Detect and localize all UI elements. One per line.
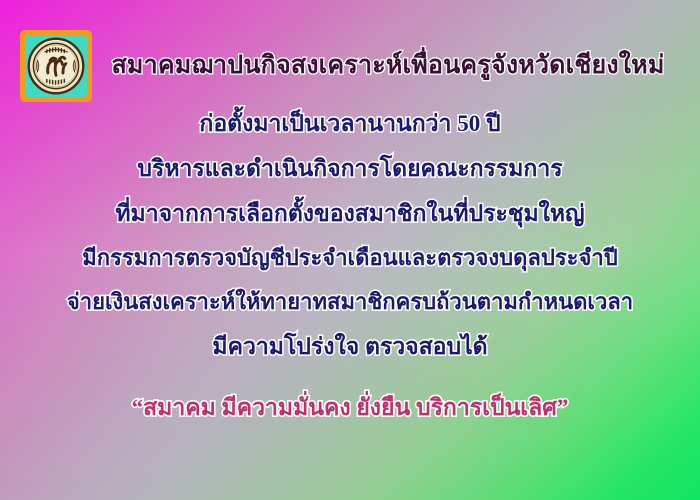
page-title: สมาคมฌาปนกิจสงเคราะห์เพื่อนครูจังหวัดเชี…: [92, 52, 700, 80]
association-seal-logo: [20, 30, 92, 102]
body-line-4: มีกรรมการตรวจบัญชีประจำเดือนและตรวจงบดุล…: [0, 247, 700, 269]
body-line-1: ก่อตั้งมาเป็นเวลานานกว่า 50 ปี: [0, 112, 700, 135]
body-text-block: ก่อตั้งมาเป็นเวลานานกว่า 50 ปี บริหารและ…: [0, 112, 700, 380]
poster-canvas: สมาคมฌาปนกิจสงเคราะห์เพื่อนครูจังหวัดเชี…: [0, 0, 700, 500]
body-line-5: จ่ายเงินสงเคราะห์ให้ทายาทสมาชิกครบถ้วนตา…: [0, 291, 700, 313]
body-line-2: บริหารและดำเนินกิจการโดยคณะกรรมการ: [0, 157, 700, 180]
body-line-3: ที่มาจากการเลือกตั้งของสมาชิกในที่ประชุม…: [0, 202, 700, 225]
circular-seal-icon: [27, 37, 85, 95]
body-line-6: มีความโปร่งใจ ตรวจสอบได้: [0, 335, 700, 358]
slogan-text: “สมาคม มีความมั่นคง ยั่งยืน บริการเป็นเล…: [0, 390, 700, 426]
header-row: สมาคมฌาปนกิจสงเคราะห์เพื่อนครูจังหวัดเชี…: [0, 28, 700, 104]
logo-inner-panel: [25, 35, 87, 97]
